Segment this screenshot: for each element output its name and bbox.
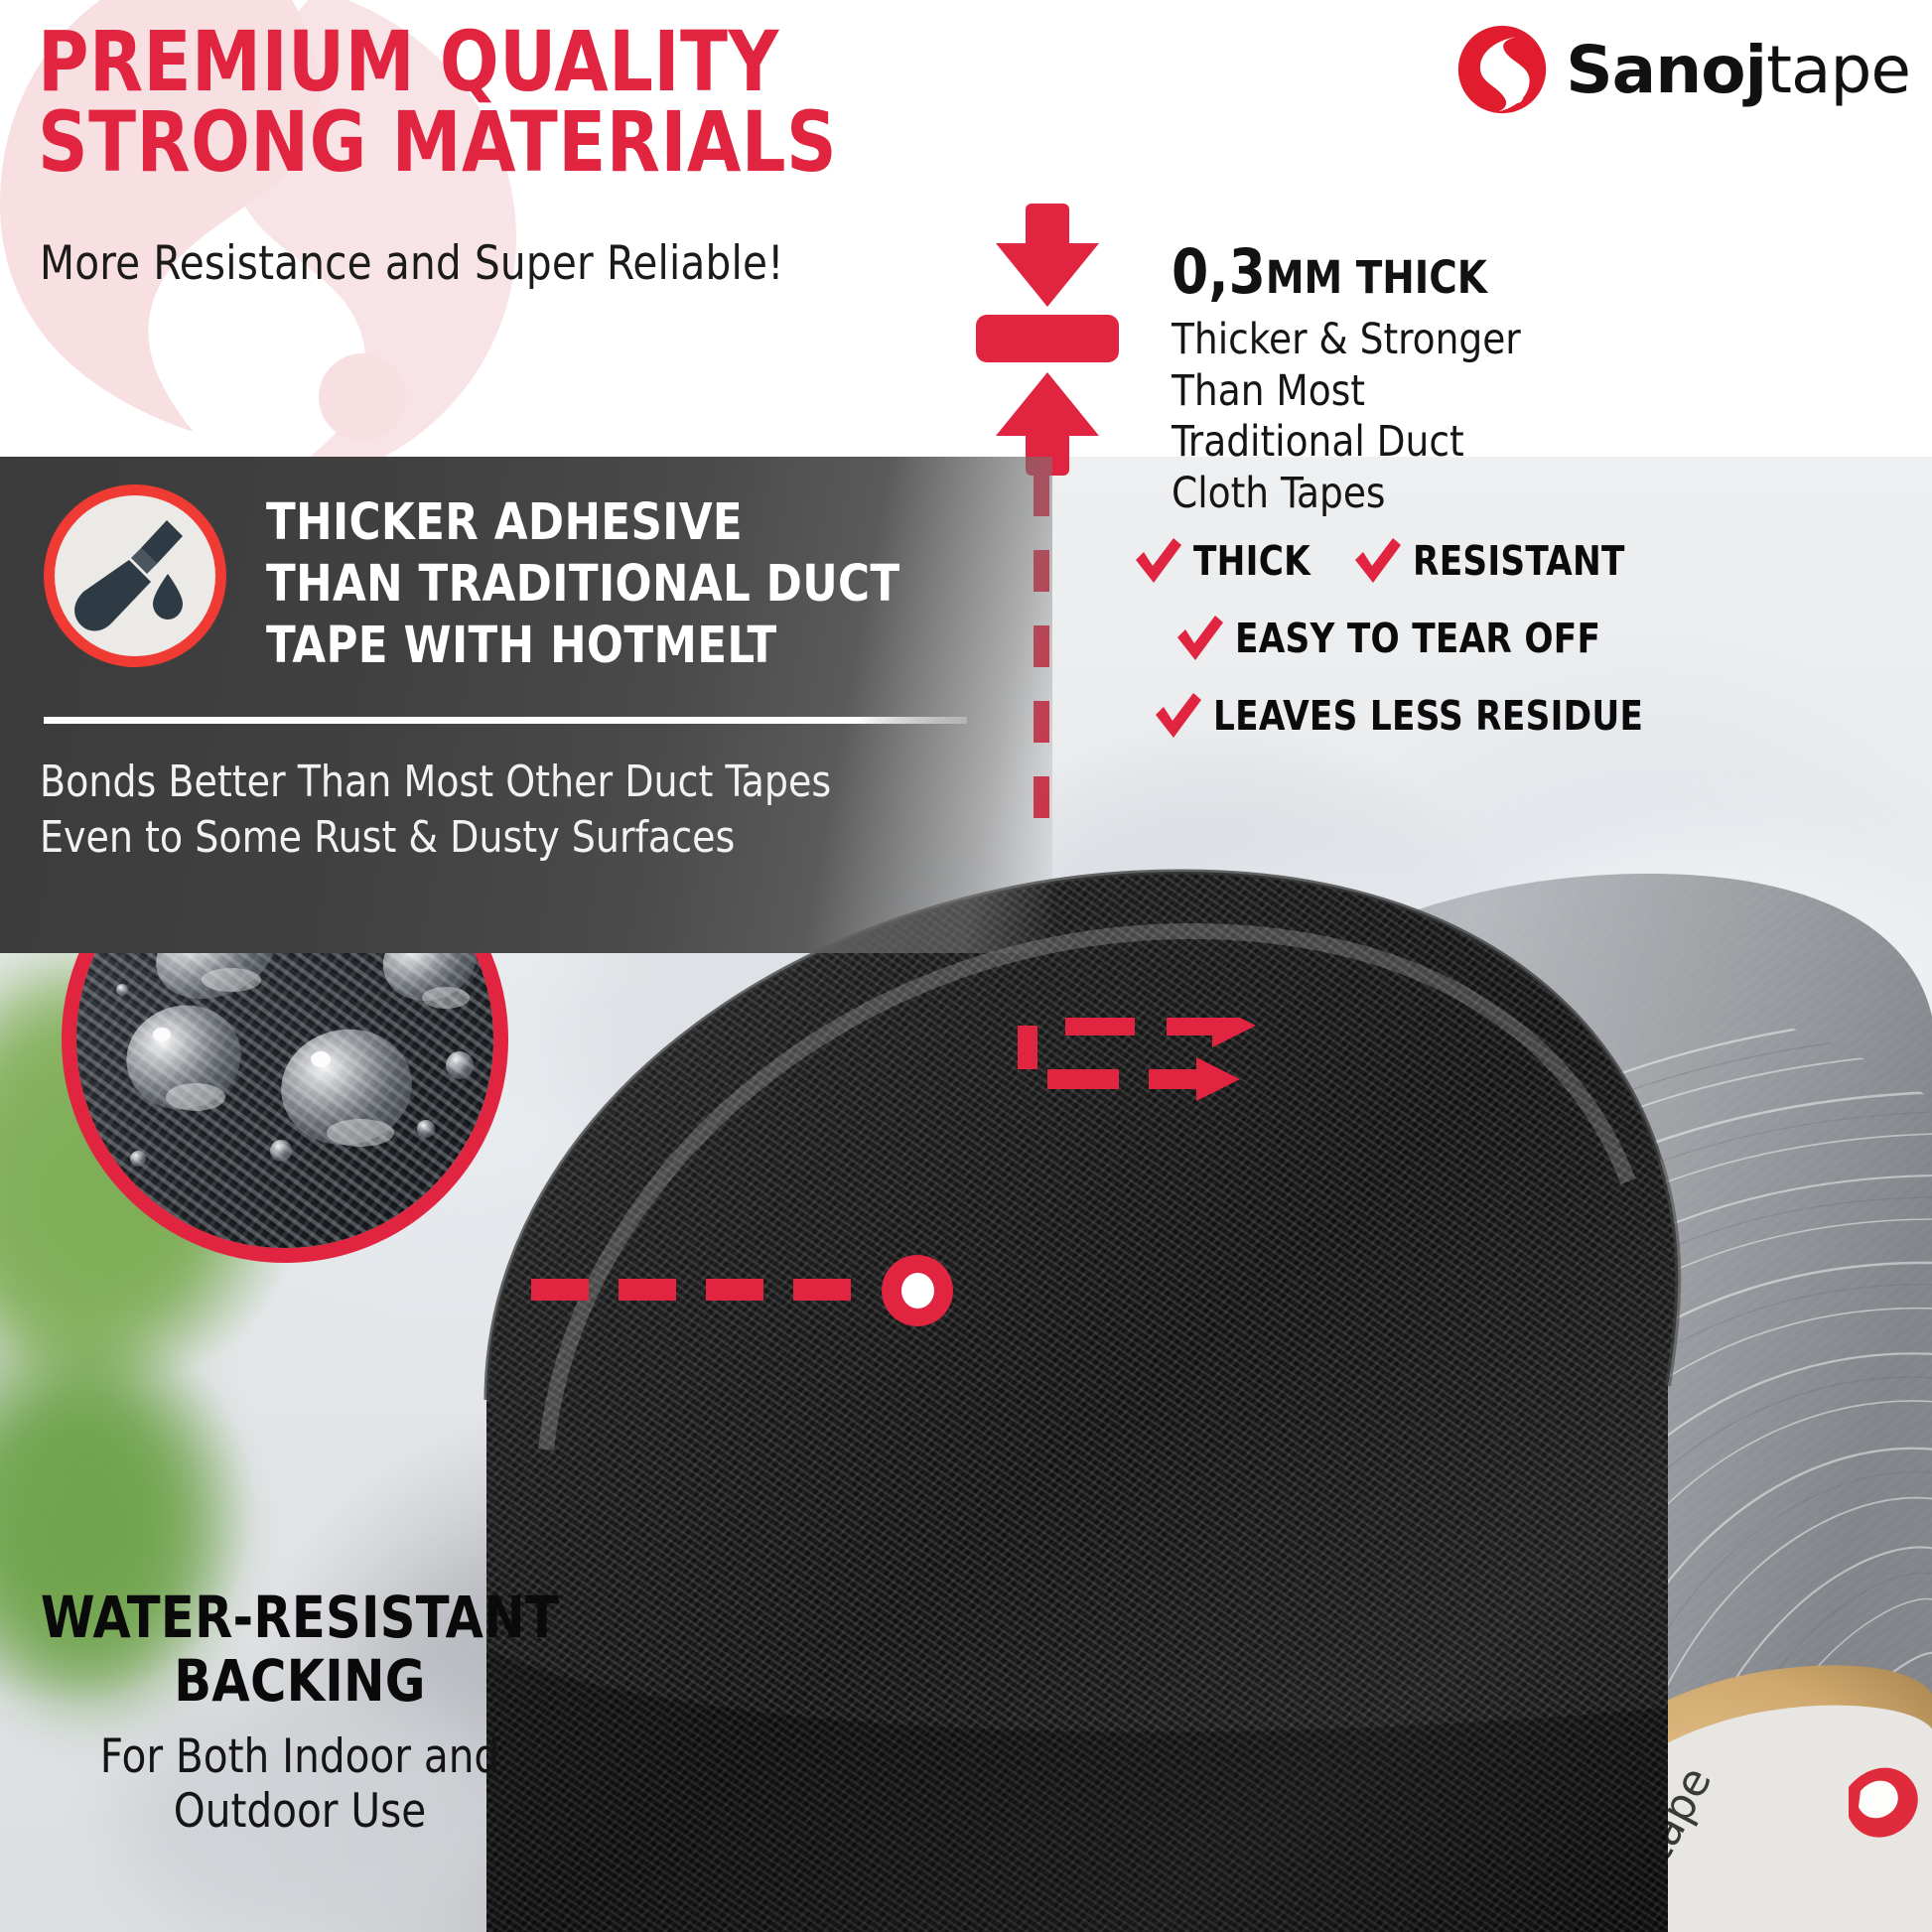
panel-body-line2: Even to Some Rust & Dusty Surfaces — [40, 810, 831, 866]
infographic-canvas: tape — [0, 0, 1932, 1932]
list-item: THICK — [1132, 536, 1319, 586]
panel-divider — [44, 717, 967, 724]
feature-label-less-residue: LEAVES LESS RESIDUE — [1213, 692, 1643, 740]
thickness-desc-line2: Than Most — [1172, 366, 1672, 418]
brand-name-light: tape — [1766, 32, 1910, 108]
thickness-text-block: 0,3MM THICK Thicker & Stronger Than Most… — [1172, 241, 1688, 519]
page-headline: PREMIUM QUALITY STRONG MATERIALS — [38, 22, 837, 184]
list-item: LEAVES LESS RESIDUE — [1152, 691, 1676, 741]
check-mark-icon — [1351, 536, 1403, 586]
thickness-desc-line4: Cloth Tapes — [1172, 469, 1672, 520]
thickness-unit: MM THICK — [1266, 251, 1487, 304]
thickness-arrows-icon — [968, 204, 1127, 477]
brand-logo: Sanojtape — [1456, 24, 1910, 115]
adhesive-panel-title: THICKER ADHESIVE THAN TRADITIONAL DUCT T… — [266, 492, 899, 678]
check-mark-icon — [1152, 691, 1203, 741]
list-item: EASY TO TEAR OFF — [1173, 614, 1628, 663]
connector-ring-marker — [882, 1255, 953, 1326]
headline-line2: STRONG MATERIALS — [38, 102, 837, 183]
sanoj-s-circle-logo-icon — [1456, 24, 1548, 115]
page-subheadline: More Resistance and Super Reliable! — [40, 236, 784, 291]
wr-sub-line2: Outdoor Use — [33, 1784, 567, 1839]
wr-title-line2: BACKING — [36, 1650, 564, 1714]
feature-label-easy-tear: EASY TO TEAR OFF — [1235, 615, 1600, 662]
list-item: RESISTANT — [1351, 536, 1641, 586]
thickness-desc-line3: Traditional Duct — [1172, 417, 1672, 469]
check-mark-icon — [1132, 536, 1183, 586]
checklist-row: THICK RESISTANT — [1132, 536, 1932, 586]
panel-body-line1: Bonds Better Than Most Other Duct Tapes — [40, 755, 831, 810]
checklist-row: LEAVES LESS RESIDUE — [1152, 691, 1932, 741]
connector-dashed-line — [531, 1279, 879, 1301]
adhesive-panel-body: Bonds Better Than Most Other Duct Tapes … — [40, 755, 831, 867]
glue-bottle-drop-icon — [44, 484, 226, 667]
thickness-value: 0,3 — [1172, 235, 1266, 308]
check-mark-icon — [1173, 614, 1225, 663]
panel-title-line3: TAPE WITH HOTMELT — [266, 616, 899, 677]
tape-edge-dashed-arrows-icon — [1008, 1018, 1276, 1127]
checklist-row: EASY TO TEAR OFF — [1173, 614, 1932, 663]
panel-title-line2: THAN TRADITIONAL DUCT — [266, 554, 899, 616]
water-resistant-caption: WATER-RESISTANT BACKING For Both Indoor … — [22, 1587, 578, 1840]
adhesive-panel: THICKER ADHESIVE THAN TRADITIONAL DUCT T… — [0, 457, 1052, 953]
feature-label-thick: THICK — [1193, 537, 1311, 585]
wr-sub-line1: For Both Indoor and — [33, 1729, 567, 1784]
thickness-desc-line1: Thicker & Stronger — [1172, 315, 1672, 366]
feature-label-resistant: RESISTANT — [1413, 537, 1625, 585]
brand-name-bold: Sanoj — [1566, 32, 1766, 108]
wr-title-line1: WATER-RESISTANT — [36, 1587, 564, 1650]
brand-wordmark: Sanojtape — [1566, 32, 1910, 108]
panel-title-line1: THICKER ADHESIVE — [266, 492, 899, 554]
feature-checklist: THICK RESISTANT EASY TO TEAR OFF — [1132, 536, 1932, 768]
